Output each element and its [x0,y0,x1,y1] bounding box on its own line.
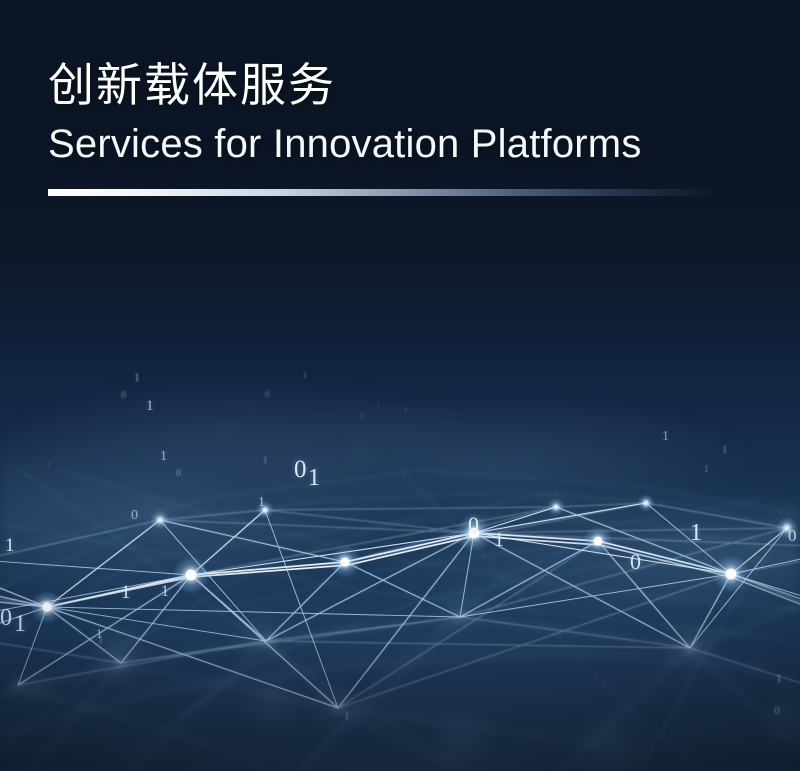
title-divider-rule [48,189,716,196]
foreground-blur-nodes [15,613,694,711]
innovation-platform-banner: 1011010101101011110101011111111101 创新载体服… [0,0,800,771]
page-title-chinese: 创新载体服务 [48,58,716,112]
page-subtitle-english: Services for Innovation Platforms [48,122,716,167]
banner-header: 创新载体服务 Services for Innovation Platforms [48,58,716,196]
